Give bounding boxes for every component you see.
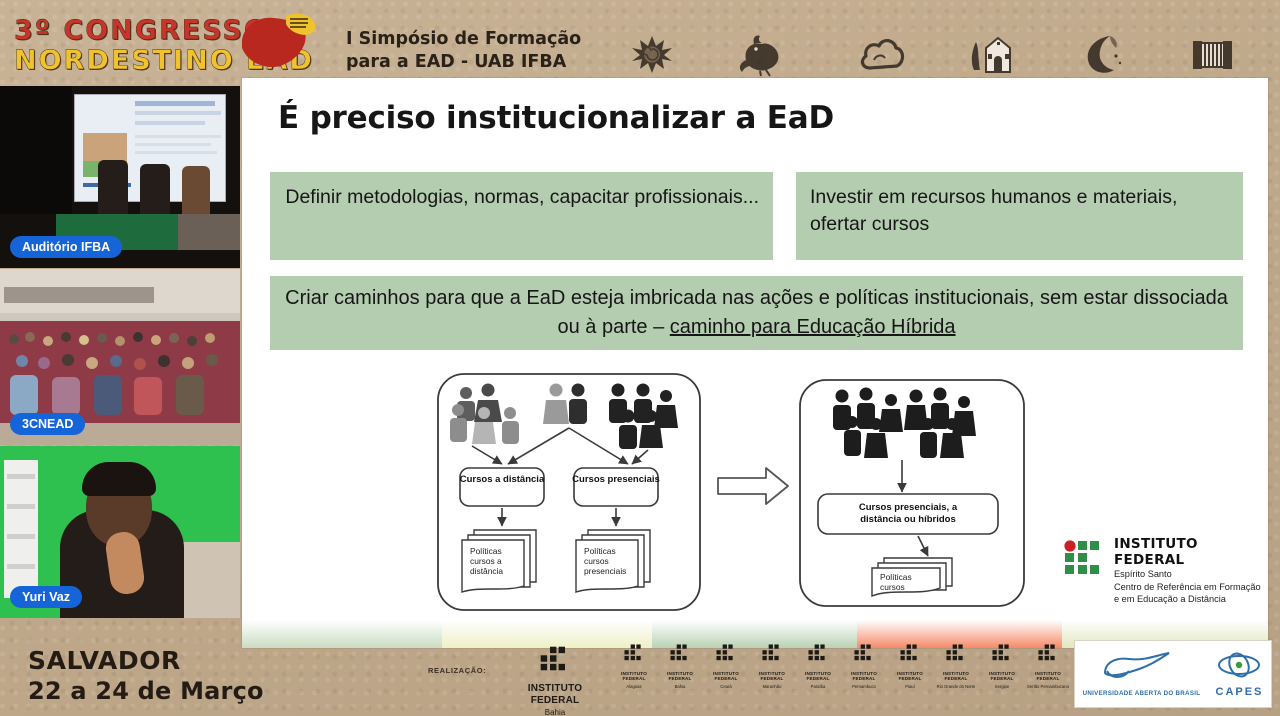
instituto-federal-mark-icon [1038, 644, 1058, 664]
capes-logo: CAPES [1216, 651, 1264, 698]
cloud-icon [856, 30, 908, 78]
speaker-silhouette [182, 166, 210, 214]
capes-mark-icon [1216, 651, 1262, 679]
institute-name: INSTITUTO FEDERAL [612, 671, 656, 682]
institute-logo-9: INSTITUTO FEDERAL Sertão Pernambucano [1026, 644, 1070, 689]
institute-state: Alagoas [612, 684, 656, 689]
panel-table-right [178, 214, 240, 250]
institute-logo-6: INSTITUTO FEDERAL Piauí [888, 644, 932, 689]
institute-logo-0: INSTITUTO FEDERAL Alagoas [612, 644, 656, 689]
audience-crowd [0, 313, 240, 425]
ifba-main-logo: INSTITUTO FEDERAL Bahia [512, 646, 598, 716]
svg-text:Políticas: Políticas [584, 546, 616, 556]
event-dates: 22 a 24 de Março [28, 676, 264, 706]
organizer-logo-row: INSTITUTO FEDERAL Bahia INSTITUTO FEDERA… [512, 644, 1064, 710]
institute-name: INSTITUTO FEDERAL [796, 671, 840, 682]
slide-box-2: Investir em recursos humanos e materiais… [796, 172, 1243, 260]
accordion-icon [1186, 30, 1238, 78]
brazil-northeast-map-icon [228, 10, 320, 72]
svg-text:Cursos presenciais, a: Cursos presenciais, a [859, 502, 958, 513]
uab-logo-text: UNIVERSIDADE ABERTA DO BRASIL [1083, 690, 1201, 697]
instituto-federal-line4: e em Educação a Distância [1114, 594, 1264, 606]
realization-label: REALIZAÇÃO: [428, 666, 486, 675]
event-city: SALVADOR [28, 646, 264, 676]
svg-text:Políticas: Políticas [880, 572, 912, 582]
svg-text:distância ou híbridos: distância ou híbridos [860, 514, 956, 525]
speaker-silhouette [98, 160, 128, 214]
stage-curtain [0, 86, 72, 214]
institute-logo-7: INSTITUTO FEDERAL Rio Grande do Norte [934, 644, 978, 689]
event-location-dates: SALVADOR 22 a 24 de Março [28, 646, 264, 706]
instituto-federal-mark-icon [946, 644, 966, 664]
diagram-doc-label: Políticas [470, 546, 502, 556]
speaker-silhouette [140, 164, 170, 214]
person-hair [82, 462, 156, 496]
slide-box-3: Criar caminhos para que a EaD esteja imb… [270, 276, 1243, 350]
instituto-federal-mark-icon [854, 644, 874, 664]
institute-state: Maranhão [750, 684, 794, 689]
ifba-logo-name: INSTITUTO FEDERAL [512, 683, 598, 706]
instituto-federal-es-logo: INSTITUTO FEDERAL Espírito Santo Centro … [1064, 536, 1254, 588]
institute-state: Paraíba [796, 684, 840, 689]
video-tile-auditorio[interactable]: Auditório IFBA [0, 86, 240, 268]
video-label-auditorio: Auditório IFBA [10, 236, 122, 258]
diagram-left-panel: Cursos a distância Cursos presenciais Po… [438, 374, 700, 610]
institute-state: Sergipe [980, 684, 1024, 689]
uab-logo: UNIVERSIDADE ABERTA DO BRASIL [1083, 651, 1201, 697]
house-icon [966, 30, 1018, 78]
institute-name: INSTITUTO FEDERAL [704, 671, 748, 682]
presentation-stage: 3º CONGRESSO NORDESTINO EAD I Simpósio d… [0, 0, 1280, 716]
diagram-docs-distancia: Políticas cursos a distância [462, 530, 536, 592]
institute-name: INSTITUTO FEDERAL [980, 671, 1024, 682]
institute-name: INSTITUTO FEDERAL [842, 671, 886, 682]
institute-state: Ceará [704, 684, 748, 689]
instituto-federal-mark-icon [716, 644, 736, 664]
instituto-federal-mark-icon [1064, 540, 1106, 582]
video-label-3cnead: 3CNEAD [10, 413, 85, 435]
institute-logo-8: INSTITUTO FEDERAL Sergipe [980, 644, 1024, 689]
institute-state: Piauí [888, 684, 932, 689]
svg-text:cursos: cursos [584, 556, 609, 566]
diagram-docs-unified: Políticas cursos [872, 558, 952, 596]
people-group-unified [833, 388, 976, 459]
slide-panel: É preciso institucionalizar a EaD Defini… [242, 78, 1268, 648]
instituto-federal-mark-icon [992, 644, 1012, 664]
video-label-yuri-vaz: Yuri Vaz [10, 586, 82, 608]
symposium-title: I Simpósio de Formação para a EAD - UAB … [346, 28, 616, 74]
institute-name: INSTITUTO FEDERAL [658, 671, 702, 682]
diagram-docs-presenciais: Políticas cursos presenciais [576, 530, 650, 592]
video-tile-3cnead[interactable]: 3CNEAD [0, 269, 240, 445]
diagram-node-label: Cursos presenciais [572, 474, 660, 485]
svg-text:cursos: cursos [880, 582, 905, 592]
instituto-federal-line2: Espírito Santo [1114, 569, 1264, 581]
institute-state: Rio Grande do Norte [934, 684, 978, 689]
svg-text:distância: distância [470, 566, 503, 576]
institute-name: INSTITUTO FEDERAL [934, 671, 978, 682]
video-tile-yuri-vaz[interactable]: Yuri Vaz [0, 446, 240, 618]
slide-box-3-emphasis: caminho para Educação Híbrida [670, 316, 956, 338]
capes-logo-text: CAPES [1216, 686, 1264, 698]
institute-logo-3: INSTITUTO FEDERAL Maranhão [750, 644, 794, 689]
moon-icon [1076, 30, 1128, 78]
uab-swoosh-icon [1099, 651, 1183, 685]
event-footer: SALVADOR 22 a 24 de Março REALIZAÇÃO: IN… [0, 634, 1280, 716]
slide-title: É preciso institucionalizar a EaD [278, 100, 834, 136]
instituto-federal-mark-icon [670, 644, 690, 664]
auditorium-balcony [4, 287, 154, 303]
diagram-node-label: Cursos a distância [460, 474, 545, 485]
rooster-icon [736, 30, 788, 78]
people-group-center [543, 384, 587, 425]
people-group-left [450, 384, 519, 445]
diagram-right-panel: Cursos presenciais, a distância ou híbri… [800, 380, 1024, 606]
institute-state: Sertão Pernambucano [1026, 684, 1070, 689]
institute-state: Bahia [658, 684, 702, 689]
institute-logo-1: INSTITUTO FEDERAL Bahia [658, 644, 702, 689]
instituto-federal-mark-icon [540, 646, 570, 676]
sun-icon [626, 30, 678, 78]
shelf [4, 460, 38, 598]
event-header: 3º CONGRESSO NORDESTINO EAD I Simpósio d… [0, 0, 1280, 86]
ifba-logo-state: Bahia [512, 708, 598, 716]
arrow-right-icon [718, 468, 788, 504]
institute-state: Pernambuco [842, 684, 886, 689]
people-group-right [609, 384, 678, 450]
institute-logo-2: INSTITUTO FEDERAL Ceará [704, 644, 748, 689]
institute-logo-4: INSTITUTO FEDERAL Paraíba [796, 644, 840, 689]
slide-box-1: Definir metodologias, normas, capacitar … [270, 172, 773, 260]
institute-logo-5: INSTITUTO FEDERAL Pernambuco [842, 644, 886, 689]
instituto-federal-mark-icon [900, 644, 920, 664]
instituto-federal-name: INSTITUTO FEDERAL [1114, 536, 1264, 568]
instituto-federal-line3: Centro de Referência em Formação [1114, 582, 1264, 594]
institutionalization-diagram: Cursos a distância Cursos presenciais Po… [432, 368, 1032, 616]
instituto-federal-mark-icon [762, 644, 782, 664]
institute-name: INSTITUTO FEDERAL [1026, 671, 1070, 682]
decorative-icon-row [610, 30, 1270, 82]
svg-text:cursos a: cursos a [470, 556, 502, 566]
instituto-federal-mark-icon [624, 644, 644, 664]
institute-name: INSTITUTO FEDERAL [750, 671, 794, 682]
instituto-federal-mark-icon [808, 644, 828, 664]
svg-text:presenciais: presenciais [584, 566, 626, 576]
sponsor-logos: UNIVERSIDADE ABERTA DO BRASIL CAPES [1074, 640, 1272, 708]
institute-name: INSTITUTO FEDERAL [888, 671, 932, 682]
video-thumbnail-strip: Auditório IFBA [0, 86, 240, 634]
